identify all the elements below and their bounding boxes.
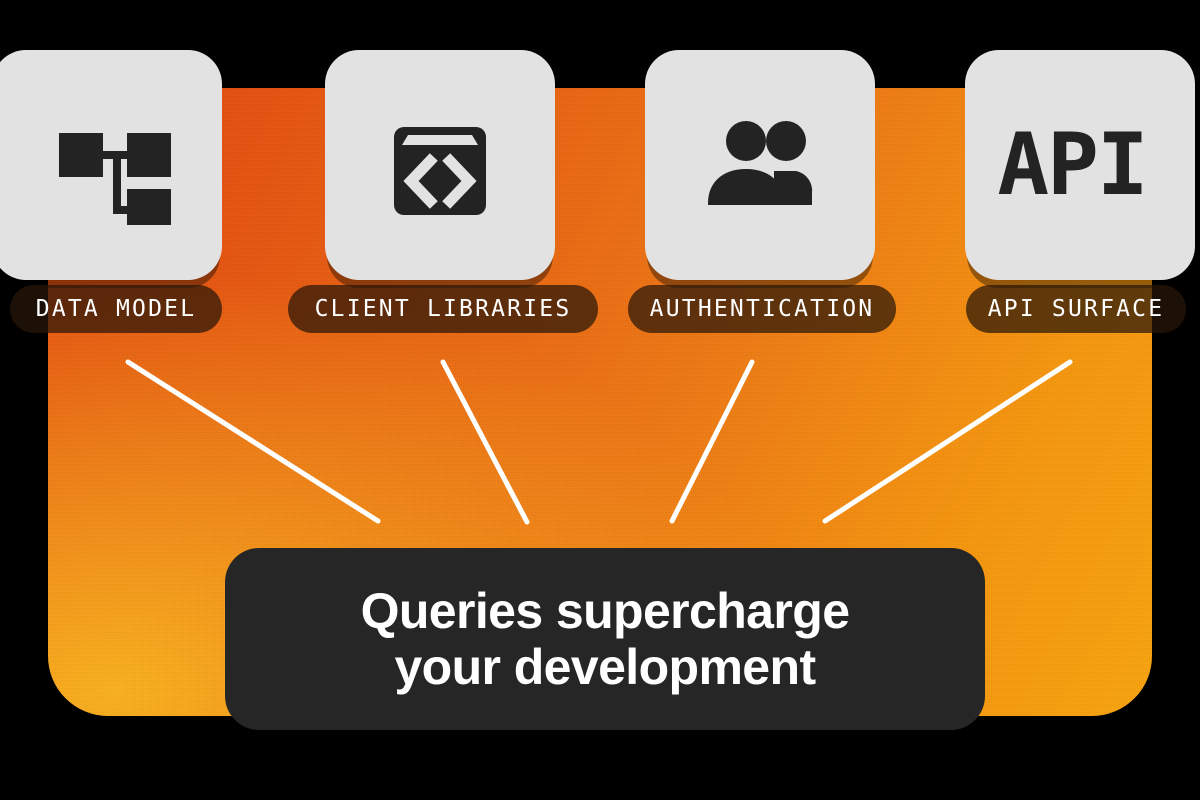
code-package-icon: [380, 105, 500, 225]
feature-label-authentication[interactable]: AUTHENTICATION: [628, 285, 896, 333]
feature-label-text: CLIENT LIBRARIES: [315, 298, 572, 321]
feature-tile-data-model[interactable]: [0, 50, 222, 280]
feature-tile-api-surface[interactable]: API: [965, 50, 1195, 280]
feature-label-data-model[interactable]: DATA MODEL: [10, 285, 222, 333]
feature-tile-authentication[interactable]: [645, 50, 875, 280]
feature-label-client-libraries[interactable]: CLIENT LIBRARIES: [288, 285, 598, 333]
feature-label-api-surface[interactable]: API SURFACE: [966, 285, 1186, 333]
feature-label-text: DATA MODEL: [36, 298, 196, 321]
headline-text: Queries supercharge your development: [337, 583, 874, 695]
feature-label-text: API SURFACE: [988, 298, 1165, 321]
users-group-icon: [700, 105, 820, 225]
feature-tile-client-libraries[interactable]: [325, 50, 555, 280]
infographic-stage: API DATA MODEL CLIENT LIBRARIES AUTHENTI…: [0, 0, 1200, 800]
schema-hierarchy-icon: [55, 105, 175, 225]
feature-label-text: AUTHENTICATION: [650, 298, 875, 321]
headline-card: Queries supercharge your development: [225, 548, 985, 730]
api-text-icon: API: [997, 122, 1146, 208]
